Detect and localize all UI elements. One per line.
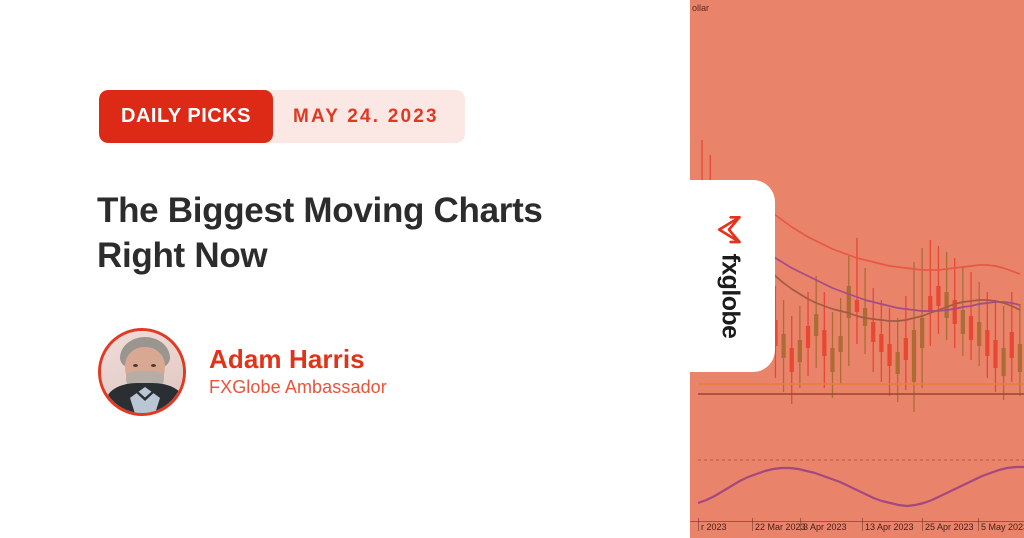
candle-body [1010, 332, 1014, 358]
candle-body [871, 322, 875, 342]
candle-body [993, 340, 997, 368]
daily-picks-article-card: DAILY PICKS MAY 24. 2023 The Biggest Mov… [0, 0, 1024, 538]
x-axis-tick-labels: r 202322 Mar 20233 Apr 202313 Apr 202325… [690, 516, 1024, 532]
daily-picks-badge-group: DAILY PICKS MAY 24. 2023 [99, 90, 465, 143]
fxglobe-logo-card: fxglobe [690, 180, 775, 372]
candle-body [969, 316, 973, 340]
x-axis-tick [698, 518, 699, 531]
x-axis-tick-label: r 2023 [701, 522, 727, 532]
candle-body [896, 352, 900, 374]
candle-body [879, 334, 883, 352]
candle-body [822, 330, 826, 356]
x-axis-tick-label: 3 Apr 2023 [803, 522, 847, 532]
candle-body [839, 336, 843, 352]
candle-body [798, 340, 802, 362]
author-text-block: Adam Harris FXGlobe Ambassador [209, 345, 387, 398]
candle-body [961, 310, 965, 334]
fxglobe-logo-inner: fxglobe [716, 214, 745, 338]
candle-body [830, 348, 834, 372]
candle-body [936, 286, 940, 306]
candle-body [928, 296, 932, 312]
candle-body [806, 326, 810, 348]
daily-picks-badge: DAILY PICKS [99, 90, 273, 143]
candle-body [985, 330, 989, 356]
author-avatar [98, 328, 186, 416]
article-headline: The Biggest Moving Charts Right Now [97, 189, 637, 279]
candle-body [977, 322, 981, 346]
candle-body [920, 318, 924, 348]
candle-body [790, 348, 794, 372]
author-role: FXGlobe Ambassador [209, 377, 387, 399]
x-axis-tick [922, 518, 923, 531]
candle-body [1018, 344, 1022, 372]
x-axis-tick-label: 5 May 2023 [981, 522, 1024, 532]
x-axis-tick-label: 25 Apr 2023 [925, 522, 974, 532]
x-axis-tick-label: 13 Apr 2023 [865, 522, 914, 532]
article-content-panel: DAILY PICKS MAY 24. 2023 The Biggest Mov… [0, 0, 690, 538]
candle-body [912, 330, 916, 382]
oscillator-line [698, 467, 1024, 506]
candle-body [944, 292, 948, 318]
x-axis-tick [978, 518, 979, 531]
x-axis-tick [752, 518, 753, 531]
chart-title-label: ollar [692, 3, 709, 13]
publish-date-badge: MAY 24. 2023 [263, 90, 465, 143]
x-axis-tick-label: 22 Mar 2023 [755, 522, 806, 532]
candle-body [887, 344, 891, 366]
fxglobe-butterfly-mark-icon [718, 214, 742, 244]
candle-body [904, 338, 908, 360]
author-name: Adam Harris [209, 345, 387, 375]
avatar-eye-right [151, 364, 156, 367]
fxglobe-wordmark: fxglobe [716, 253, 745, 338]
x-axis-tick [862, 518, 863, 531]
candle-body [814, 314, 818, 336]
trading-chart-panel: ollar r 202322 Mar 20233 Apr 202313 Apr … [690, 0, 1024, 538]
author-block: Adam Harris FXGlobe Ambassador [98, 328, 387, 416]
avatar-eye-left [133, 364, 138, 367]
candle-body [1002, 348, 1006, 376]
candle-body [781, 334, 785, 358]
x-axis-tick [800, 518, 801, 531]
candle-body [855, 300, 859, 312]
